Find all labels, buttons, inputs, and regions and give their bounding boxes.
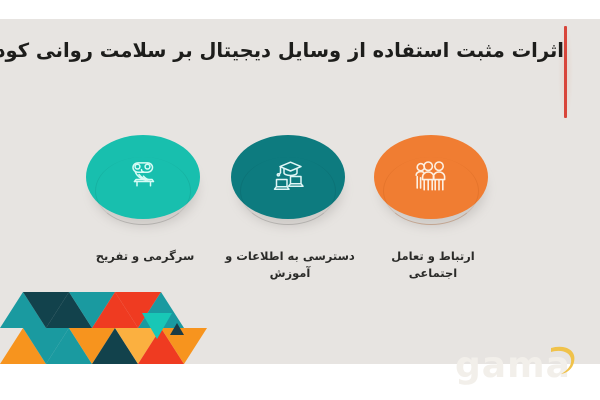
top-white-band bbox=[0, 0, 600, 19]
disc-wrapper-education bbox=[231, 135, 349, 230]
slide-canvas: اثرات مثبت استفاده از وسایل دیجیتال بر س… bbox=[0, 0, 600, 400]
bottom-white-band bbox=[0, 364, 600, 400]
card-caption-entertainment: سرگرمی و تفریح bbox=[70, 248, 220, 265]
title-accent-bar bbox=[564, 26, 567, 118]
page-title: اثرات مثبت استفاده از وسایل دیجیتال بر س… bbox=[44, 38, 564, 64]
card-education[interactable]: دسترسی به اطلاعات و آموزش bbox=[215, 135, 365, 283]
cards-row: سرگرمی و تفریح bbox=[0, 135, 600, 295]
title-text: اثرات مثبت استفاده از وسایل دیجیتال بر س… bbox=[44, 38, 564, 64]
people-group-icon bbox=[374, 135, 488, 219]
card-social[interactable]: ارتباط و تعامل اجتماعی bbox=[358, 135, 508, 283]
card-caption-education: دسترسی به اطلاعات و آموزش bbox=[215, 248, 365, 283]
graduation-cap-laptop-icon bbox=[231, 135, 345, 219]
card-entertainment[interactable]: سرگرمی و تفریح bbox=[70, 135, 220, 265]
floating-triangle-up-icon bbox=[170, 323, 184, 335]
disc-wrapper-entertainment bbox=[86, 135, 204, 230]
floating-triangle-down-icon bbox=[142, 313, 172, 339]
disc-wrapper-social bbox=[374, 135, 492, 230]
play-recreation-icon bbox=[86, 135, 200, 219]
card-caption-social: ارتباط و تعامل اجتماعی bbox=[358, 248, 508, 283]
